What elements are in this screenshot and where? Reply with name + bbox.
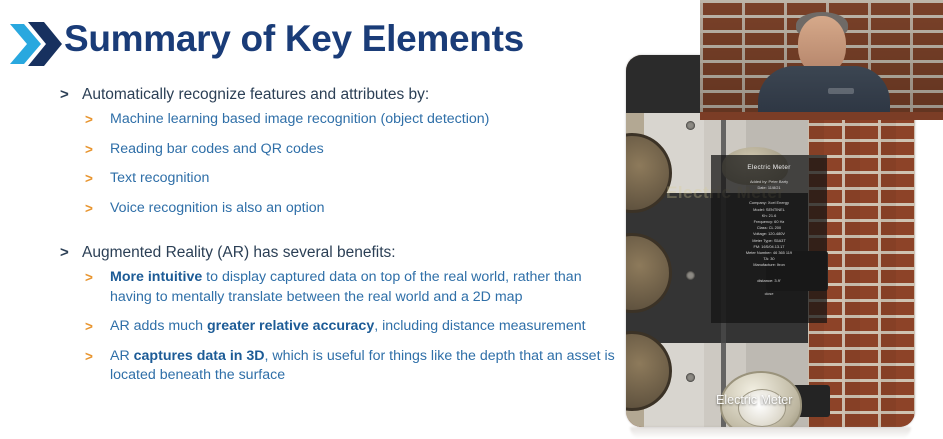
list-item-pre: AR adds much: [110, 318, 207, 334]
webcam-bottom-edge: [700, 112, 943, 120]
list-item-emphasis: More intuitive: [110, 269, 202, 285]
sublist-features: > Machine learning based image recogniti…: [60, 110, 615, 218]
list-item: > AR captures data in 3D, which is usefu…: [85, 347, 615, 386]
screw-icon: [686, 373, 695, 382]
phone-reflection: [630, 427, 911, 439]
list-item: > Machine learning based image recogniti…: [85, 110, 615, 130]
bullet-level1-text: Augmented Reality (AR) has several benef…: [82, 244, 396, 261]
ar-info-card[interactable]: Electric Meter Added by: Peter Barty Dat…: [711, 155, 827, 323]
sub-bullet-marker-icon: >: [85, 110, 93, 130]
ar-card-meta: Added by: Peter Barty Date: 11/8/21: [711, 179, 827, 191]
list-item: > Voice recognition is also an option: [85, 199, 615, 219]
list-item: > Reading bar codes and QR codes: [85, 140, 615, 160]
list-item-emphasis: captures data in 3D: [134, 348, 265, 364]
slide-body: > Automatically recognize features and a…: [60, 84, 615, 396]
bullet-marker-icon: >: [60, 84, 69, 105]
sub-bullet-marker-icon: >: [85, 140, 93, 160]
video-pane: Electric Meter Electric Meter Added by: …: [618, 0, 943, 439]
bullet-level1-ar: > Augmented Reality (AR) has several ben…: [60, 242, 615, 263]
bullet-level1-text: Automatically recognize features and att…: [82, 86, 429, 103]
sublist-ar-benefits: > More intuitive to display captured dat…: [60, 268, 615, 386]
screw-icon: [686, 271, 695, 280]
screw-icon: [686, 121, 695, 130]
bullet-level1-features: > Automatically recognize features and a…: [60, 84, 615, 105]
list-item-text: Machine learning based image recognition…: [110, 111, 489, 127]
double-chevron-logo: [8, 16, 64, 72]
sub-bullet-marker-icon: >: [85, 347, 93, 367]
presenter-webcam[interactable]: [700, 0, 943, 120]
list-item: > Text recognition: [85, 169, 615, 189]
list-item: > AR adds much greater relative accuracy…: [85, 317, 615, 337]
ar-meta-row: Date: 11/8/21: [711, 185, 827, 191]
bullet-marker-icon: >: [60, 242, 69, 263]
section-spacer: [60, 228, 615, 242]
list-item-text: Text recognition: [110, 170, 209, 186]
ar-close-button[interactable]: close: [711, 292, 827, 296]
list-item-emphasis: greater relative accuracy: [207, 318, 374, 334]
list-item-pre: AR: [110, 348, 134, 364]
list-item: > More intuitive to display captured dat…: [85, 268, 615, 307]
ar-meter-caption: Electric Meter: [716, 393, 792, 407]
list-item-text: Reading bar codes and QR codes: [110, 141, 324, 157]
sub-bullet-marker-icon: >: [85, 169, 93, 189]
list-item-text: Voice recognition is also an option: [110, 200, 325, 216]
list-item-text: AR adds much greater relative accuracy, …: [110, 318, 586, 334]
list-item-text: More intuitive to display captured data …: [110, 269, 582, 305]
sub-bullet-marker-icon: >: [85, 268, 93, 288]
ar-distance-value: distance: 3.9': [711, 278, 827, 283]
presentation-slide: Summary of Key Elements > Automatically …: [0, 0, 943, 439]
page-title: Summary of Key Elements: [64, 18, 524, 60]
list-item-text: AR captures data in 3D, which is useful …: [110, 348, 615, 384]
list-item-rest: , including distance measurement: [374, 318, 585, 334]
ar-card-title: Electric Meter: [711, 164, 827, 171]
sub-bullet-marker-icon: >: [85, 199, 93, 219]
ar-spec-row: Manufacture: Itron: [711, 262, 827, 268]
ar-card-specs: Company: Xcel Energy Model: SENTINEL Kh:…: [711, 200, 827, 268]
sub-bullet-marker-icon: >: [85, 317, 93, 337]
shirt-logo-icon: [828, 88, 854, 94]
